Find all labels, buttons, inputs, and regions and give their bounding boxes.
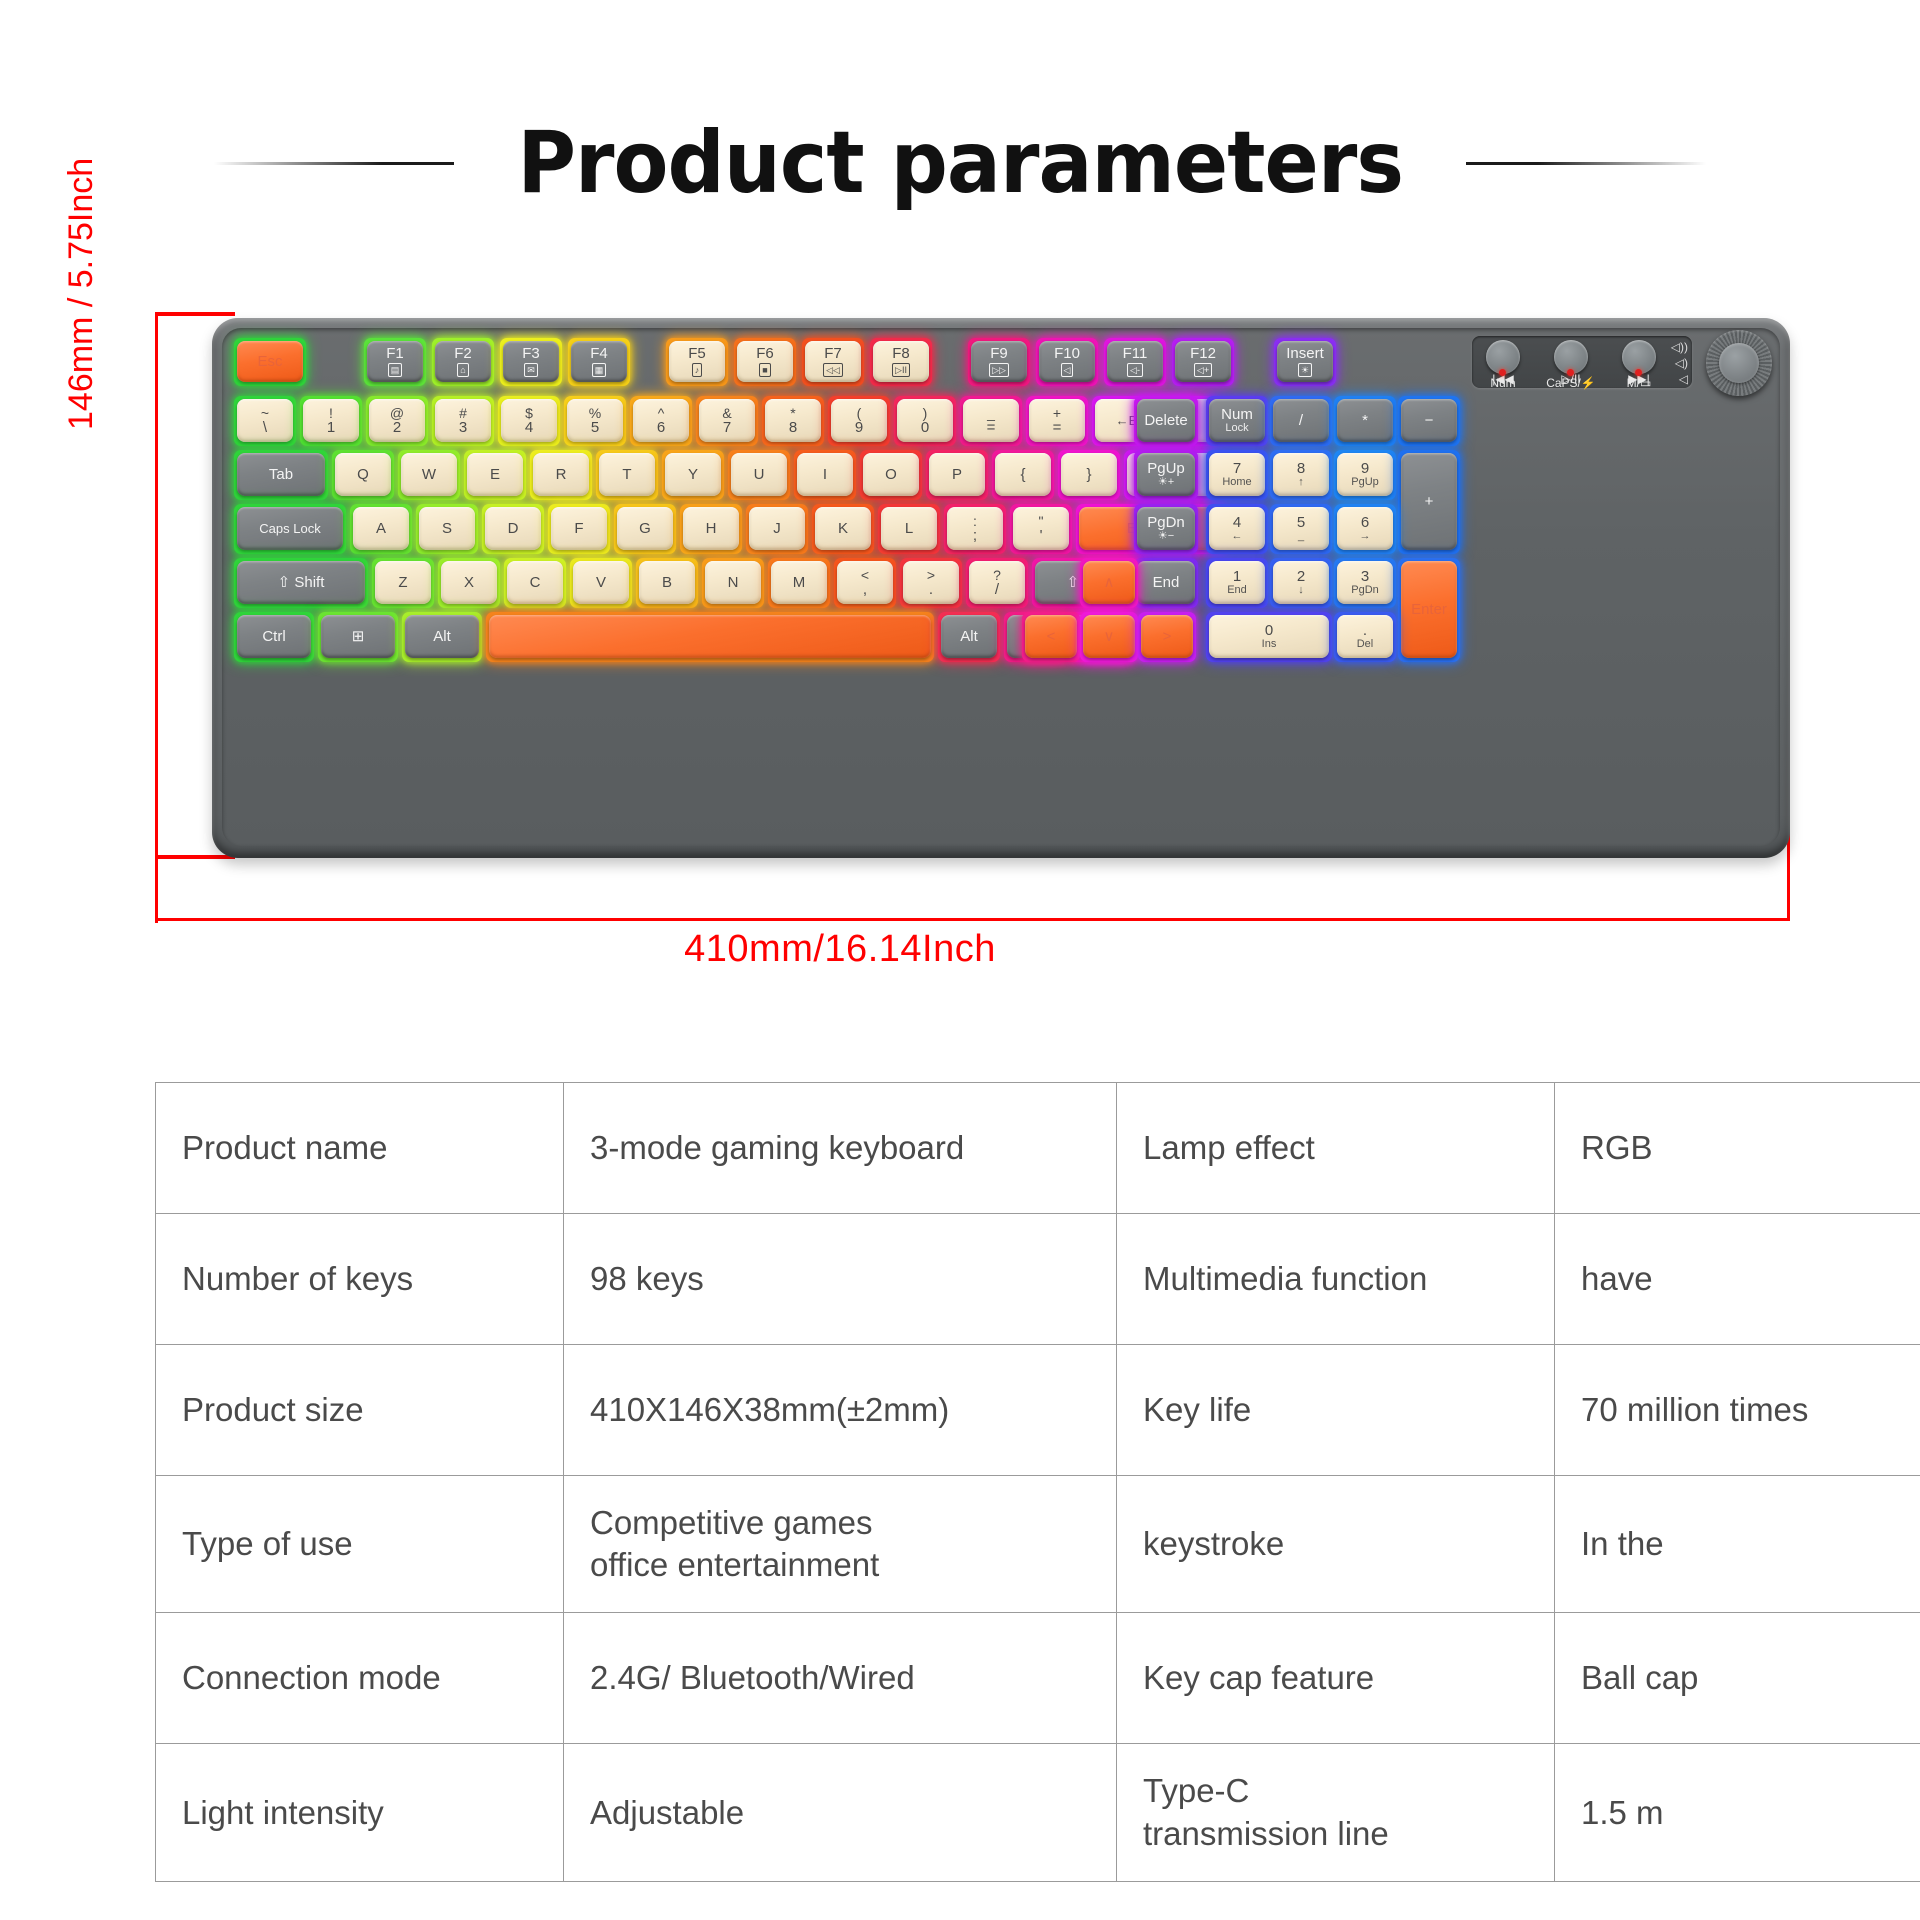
next-track-icon: ▷▷ <box>989 363 1009 377</box>
key-legend-shifted: ~ <box>261 406 269 420</box>
dimension-horizontal-tick-left <box>155 838 158 923</box>
key-f10[interactable]: F10◁ <box>1036 338 1098 386</box>
keycap: F8▷II <box>873 341 929 382</box>
key-f[interactable]: F <box>548 504 610 554</box>
keycap: B <box>639 561 695 604</box>
key-numpad-4[interactable]: 4← <box>1206 504 1268 554</box>
led-indicator-caps- <box>1567 369 1574 376</box>
volume-knob-icon[interactable] <box>1706 330 1772 396</box>
key-legend: F12 <box>1190 346 1216 361</box>
key-sublegend: ☀− <box>1158 531 1174 542</box>
key-t[interactable]: T <box>596 450 658 500</box>
key-f8[interactable]: F8▷II <box>870 338 932 386</box>
key-numpad-dot[interactable]: .Del <box>1334 612 1396 662</box>
key-sublegend: Ins <box>1262 639 1277 650</box>
key-legend-shifted: ( <box>857 406 862 420</box>
key-4[interactable]: $4 <box>498 396 560 446</box>
key-e[interactable]: E <box>464 450 526 500</box>
key-legend-shifted: # <box>459 406 467 420</box>
keycap: X <box>441 561 497 604</box>
key-legend-shifted: _ <box>987 406 995 420</box>
key-legend: − <box>1425 413 1434 428</box>
volume-up-icon: ◁+ <box>1194 363 1212 377</box>
key-legend: 8 <box>789 420 797 435</box>
key-p[interactable]: P <box>926 450 988 500</box>
spec-value-3: In the <box>1555 1476 1920 1613</box>
keycap: F4▦ <box>571 341 627 382</box>
table-row: Light intensityAdjustableType-Ctransmiss… <box>156 1744 1920 1881</box>
key-numpad-8[interactable]: 8↑ <box>1270 450 1332 500</box>
dimension-vertical-tick-bottom <box>155 855 235 859</box>
key-legend: C <box>530 575 541 590</box>
key-legend: E <box>490 467 500 482</box>
keycap: 3PgDn <box>1337 561 1393 604</box>
key-legend: V <box>596 575 606 590</box>
key-insert[interactable]: Insert☀ <box>1274 338 1336 386</box>
spec-label-3: Type of use <box>156 1476 564 1613</box>
key-legend: F3 <box>522 346 540 361</box>
spec-value-5: 1.5 m <box>1555 1744 1920 1881</box>
key-legend: F9 <box>990 346 1008 361</box>
key-legend: 8 <box>1297 461 1305 476</box>
key-legend: / <box>995 582 999 597</box>
key-legend: F8 <box>892 346 910 361</box>
key-r[interactable]: R <box>530 450 592 500</box>
key-i[interactable]: I <box>794 450 856 500</box>
page-title: Product parameters <box>517 113 1403 213</box>
keycap: Insert☀ <box>1277 341 1333 382</box>
key-legend: F2 <box>454 346 472 361</box>
keycap: C <box>507 561 563 604</box>
key-s[interactable]: S <box>416 504 478 554</box>
keycap: 5_ <box>1273 507 1329 550</box>
keycap: M <box>771 561 827 604</box>
key-sublegend: Lock <box>1225 423 1248 434</box>
key-alt[interactable]: Alt <box>402 612 482 662</box>
key-legend: N <box>728 575 739 590</box>
keycap: Enter <box>1401 561 1457 658</box>
key-legend: 4 <box>525 420 533 435</box>
key-alt[interactable]: Alt <box>938 612 1000 662</box>
key-tab[interactable]: Tab <box>234 450 328 500</box>
key-legend: Alt <box>433 629 451 644</box>
keycap: < <box>1025 615 1077 658</box>
key-c[interactable]: C <box>504 558 566 608</box>
keycap: 7Home <box>1209 453 1265 496</box>
keycap: (9 <box>831 399 887 442</box>
key-7[interactable]: &7 <box>696 396 758 446</box>
key-legend: ' <box>1040 528 1043 543</box>
key-legend: A <box>376 521 386 536</box>
spec-value-1: 98 keys <box>564 1214 1117 1345</box>
keycap: #3 <box>435 399 491 442</box>
key-numpad[interactable]: / <box>1270 396 1332 446</box>
key-l[interactable]: L <box>878 504 940 554</box>
key-legend: 2 <box>393 420 401 435</box>
key-5[interactable]: %5 <box>564 396 626 446</box>
keycap: * <box>1337 399 1393 442</box>
key-f5[interactable]: F5♪ <box>666 338 728 386</box>
key-legend: 6 <box>657 420 665 435</box>
key-legend: U <box>754 467 765 482</box>
key-legend: < <box>1047 629 1056 644</box>
key-legend-shifted: % <box>589 406 601 420</box>
key-numpad-6[interactable]: 6→ <box>1334 504 1396 554</box>
key-sublegend: ↑ <box>1298 477 1304 488</box>
key-legend: 7 <box>723 420 731 435</box>
keycap: 8↑ <box>1273 453 1329 496</box>
key-legend: 0 <box>921 420 929 435</box>
key-legend: Delete <box>1144 413 1187 428</box>
keycap: ⊞ <box>321 615 395 658</box>
led-indicator-m- <box>1635 369 1642 376</box>
key-k[interactable]: K <box>812 504 874 554</box>
keycap: D <box>485 507 541 550</box>
keycap: F2⌂ <box>435 341 491 382</box>
spec-label-2: Key life <box>1117 1345 1555 1476</box>
keycap: F6■ <box>737 341 793 382</box>
key-legend: Z <box>398 575 407 590</box>
keycap: F3✉ <box>503 341 559 382</box>
key-[interactable]: _= <box>960 396 1022 446</box>
spec-value-1: have <box>1555 1214 1920 1345</box>
key-[interactable]: "' <box>1010 504 1072 554</box>
key-legend: Q <box>357 467 369 482</box>
brightness-icon: ☀ <box>1298 363 1312 377</box>
keycap: 2↓ <box>1273 561 1329 604</box>
dimension-vertical-line <box>155 312 158 922</box>
led-label: M/▭ <box>1610 376 1668 390</box>
key-0[interactable]: )0 <box>894 396 956 446</box>
key-legend: 4 <box>1233 515 1241 530</box>
key-sublegend: ☀+ <box>1158 477 1174 488</box>
play-pause-icon: ▷II <box>892 363 910 377</box>
keycap: ~\ <box>237 399 293 442</box>
key-1[interactable]: !1 <box>300 396 362 446</box>
key-legend: F <box>574 521 583 536</box>
keycap: > <box>1141 615 1193 658</box>
key-delete[interactable]: Delete <box>1134 396 1198 446</box>
key-legend-shifted: < <box>861 568 869 582</box>
key-f12[interactable]: F12◁+ <box>1172 338 1234 386</box>
key-legend-shifted: ! <box>329 406 333 420</box>
keycap: Alt <box>941 615 997 658</box>
key-caps-lock[interactable]: Caps Lock <box>234 504 346 554</box>
key-legend: 9 <box>1361 461 1369 476</box>
key-[interactable]: >. <box>900 558 962 608</box>
key-[interactable]: :; <box>944 504 1006 554</box>
key-sublegend: PgDn <box>1351 585 1379 596</box>
prev-track-icon: ◁◁ <box>823 363 843 377</box>
spec-label-1: Number of keys <box>156 1214 564 1345</box>
spec-value-2: 70 million times <box>1555 1345 1920 1476</box>
key-sublegend: Del <box>1357 639 1374 650</box>
key-d[interactable]: D <box>482 504 544 554</box>
key-numpad-5[interactable]: 5_ <box>1270 504 1332 554</box>
key-legend: Insert <box>1286 346 1324 361</box>
keycap: T <box>599 453 655 496</box>
led-label: CaPS/⚡ <box>1542 376 1600 390</box>
stop-icon: ■ <box>759 363 770 377</box>
keycap: PgDn☀− <box>1137 507 1195 550</box>
key-8[interactable]: *8 <box>762 396 824 446</box>
led-label: Num <box>1474 376 1532 390</box>
key-legend: F5 <box>688 346 706 361</box>
led-indicator-num <box>1499 369 1506 376</box>
key-pgdn[interactable]: PgDn☀− <box>1134 504 1198 554</box>
key-arrow-down[interactable]: ∨ <box>1080 612 1138 662</box>
key-legend: Esc <box>257 354 282 369</box>
key-f1[interactable]: F1▤ <box>364 338 426 386</box>
home-icon: ⌂ <box>457 363 468 377</box>
keycap: F <box>551 507 607 550</box>
table-row: Connection mode2.4G/ Bluetooth/WiredKey … <box>156 1613 1920 1744</box>
spec-value-0: RGB <box>1555 1083 1920 1214</box>
key-legend: 9 <box>855 420 863 435</box>
table-row: Type of useCompetitive gamesoffice enter… <box>156 1476 1920 1613</box>
key-[interactable]: ?/ <box>966 558 1028 608</box>
key-[interactable]: } <box>1058 450 1120 500</box>
keycap: − <box>1401 399 1457 442</box>
key-f3[interactable]: F3✉ <box>500 338 562 386</box>
spec-label-0: Product name <box>156 1083 564 1214</box>
key-a[interactable]: A <box>350 504 412 554</box>
key-numpad[interactable]: * <box>1334 396 1396 446</box>
key-legend: + <box>1425 494 1434 509</box>
keycap: Caps Lock <box>237 507 343 550</box>
keycap: ∧ <box>1083 561 1135 604</box>
keycap: Q <box>335 453 391 496</box>
key-numpad-num[interactable]: NumLock <box>1206 396 1268 446</box>
key-legend-shifted: & <box>722 406 731 420</box>
keycap: *8 <box>765 399 821 442</box>
mute-icon: ◁ <box>1061 363 1074 377</box>
key-numpad-3[interactable]: 3PgDn <box>1334 558 1396 608</box>
key-[interactable]: ~\ <box>234 396 296 446</box>
key-legend: } <box>1086 467 1091 482</box>
key-m[interactable]: M <box>768 558 830 608</box>
volume-level-icon-0: ◁)) <box>1671 340 1688 354</box>
keycap: :; <box>947 507 1003 550</box>
key-legend: W <box>422 467 436 482</box>
spec-value-0: 3-mode gaming keyboard <box>564 1083 1117 1214</box>
key-f7[interactable]: F7◁◁ <box>802 338 864 386</box>
keycap: End <box>1137 561 1195 604</box>
key-legend: 6 <box>1361 515 1369 530</box>
keycap: W <box>401 453 457 496</box>
key-legend-shifted: " <box>1039 514 1044 528</box>
key-numpad-9[interactable]: 9PgUp <box>1334 450 1396 500</box>
media-control-panel[interactable]: |◀◀▷/II▶▶|NumCaPS/⚡M/▭◁))◁)◁ <box>1472 336 1692 388</box>
keycap: L <box>881 507 937 550</box>
key-legend: ∨ <box>1104 629 1115 644</box>
key-legend: 5 <box>1297 515 1305 530</box>
keycap: U <box>731 453 787 496</box>
key-f4[interactable]: F4▦ <box>568 338 630 386</box>
key-x[interactable]: X <box>438 558 500 608</box>
key-v[interactable]: V <box>570 558 632 608</box>
spec-value-4: Ball cap <box>1555 1613 1920 1744</box>
key-legend: ⇧ Shift <box>278 575 325 590</box>
key-legend: D <box>508 521 519 536</box>
key-n[interactable]: N <box>702 558 764 608</box>
key-shift[interactable]: ⇧ Shift <box>234 558 368 608</box>
keycap: Esc <box>237 341 303 382</box>
key-g[interactable]: G <box>614 504 676 554</box>
key-legend: 5 <box>591 420 599 435</box>
key-legend: F6 <box>756 346 774 361</box>
key-o[interactable]: O <box>860 450 922 500</box>
key-legend: , <box>863 582 867 597</box>
key-f9[interactable]: F9▷▷ <box>968 338 1030 386</box>
key-legend: = <box>987 420 996 435</box>
keycap: !1 <box>303 399 359 442</box>
specification-table: Product name3-mode gaming keyboardLamp e… <box>155 1082 1920 1882</box>
spec-value-2: 410X146X38mm(±2mm) <box>564 1345 1117 1476</box>
key-windows-icon[interactable]: ⊞ <box>318 612 398 662</box>
dimension-height-label: 146mm / 5.75Inch <box>62 158 101 430</box>
key-z[interactable]: Z <box>372 558 434 608</box>
key-legend-shifted: ) <box>923 406 928 420</box>
keycap: F12◁+ <box>1175 341 1231 382</box>
key-legend: 3 <box>1361 569 1369 584</box>
key-legend: Enter <box>1411 602 1447 617</box>
keycap: "' <box>1013 507 1069 550</box>
key-sublegend: Home <box>1222 477 1251 488</box>
key-legend: \ <box>263 420 267 435</box>
key-f2[interactable]: F2⌂ <box>432 338 494 386</box>
dimension-width-label: 410mm/16.14Inch <box>0 928 1920 971</box>
keycap: $4 <box>501 399 557 442</box>
keycap: I <box>797 453 853 496</box>
key-arrow-right[interactable]: > <box>1138 612 1196 662</box>
keycap: A <box>353 507 409 550</box>
keycap: / <box>1273 399 1329 442</box>
key-legend: G <box>639 521 651 536</box>
key-arrow-left[interactable]: < <box>1022 612 1080 662</box>
key-legend: L <box>905 521 913 536</box>
key-legend: > <box>1163 629 1172 644</box>
key-legend: F4 <box>590 346 608 361</box>
key-f6[interactable]: F6■ <box>734 338 796 386</box>
key-legend: 0 <box>1265 623 1273 638</box>
keyboard-plate: EscF1▤F2⌂F3✉F4▦F5♪F6■F7◁◁F8▷IIF9▷▷F10◁F1… <box>222 328 1780 846</box>
mail-icon: ✉ <box>524 363 538 377</box>
key-sublegend: → <box>1360 531 1371 542</box>
keycap: %5 <box>567 399 623 442</box>
key-2[interactable]: @2 <box>366 396 428 446</box>
keycap <box>489 615 931 658</box>
key-legend: * <box>1362 413 1368 428</box>
key-legend: 1 <box>327 420 335 435</box>
keycap: PgUp☀+ <box>1137 453 1195 496</box>
table-row: Number of keys98 keysMultimedia function… <box>156 1214 1920 1345</box>
key-q[interactable]: Q <box>332 450 394 500</box>
spec-label-5: Type-Ctransmission line <box>1117 1744 1555 1881</box>
key-numpad-2[interactable]: 2↓ <box>1270 558 1332 608</box>
key-legend: . <box>1363 623 1367 638</box>
key-legend: Y <box>688 467 698 482</box>
key-3[interactable]: #3 <box>432 396 494 446</box>
key-numpad-0[interactable]: 0Ins <box>1206 612 1332 662</box>
key-b[interactable]: B <box>636 558 698 608</box>
music-icon: ♪ <box>692 363 703 377</box>
keycap: V <box>573 561 629 604</box>
spec-label-5: Light intensity <box>156 1744 564 1881</box>
key-numpad[interactable]: − <box>1398 396 1460 446</box>
keycap: N <box>705 561 761 604</box>
key-u[interactable]: U <box>728 450 790 500</box>
dimension-width-text: 410mm/16.14Inch <box>684 928 996 970</box>
key-[interactable]: += <box>1026 396 1088 446</box>
key-sublegend: End <box>1227 585 1247 596</box>
keycap: 9PgUp <box>1337 453 1393 496</box>
keycap: F9▷▷ <box>971 341 1027 382</box>
key-sublegend: ↓ <box>1298 585 1304 596</box>
key-legend: / <box>1299 413 1303 428</box>
key-h[interactable]: H <box>680 504 742 554</box>
key-legend: . <box>929 582 933 597</box>
key-esc[interactable]: Esc <box>234 338 306 386</box>
key-legend-shifted: > <box>927 568 935 582</box>
key-ctrl[interactable]: Ctrl <box>234 612 314 662</box>
key-b3[interactable] <box>486 612 934 662</box>
key-pgup[interactable]: PgUp☀+ <box>1134 450 1198 500</box>
key-legend: Alt <box>960 629 978 644</box>
volume-level-icon-2: ◁ <box>1679 372 1688 386</box>
key-legend: ∧ <box>1104 575 1115 590</box>
volume-down-icon: ◁- <box>1127 363 1143 377</box>
keycap: F10◁ <box>1039 341 1095 382</box>
key-arrow-up[interactable]: ∧ <box>1080 558 1138 608</box>
spec-value-3: Competitive gamesoffice entertainment <box>564 1476 1117 1613</box>
title-rule-right <box>1466 162 1706 165</box>
key-j[interactable]: J <box>746 504 808 554</box>
key-9[interactable]: (9 <box>828 396 890 446</box>
key-sublegend: _ <box>1298 531 1304 542</box>
keycap: E <box>467 453 523 496</box>
keycap: J <box>749 507 805 550</box>
key-sublegend: PgUp <box>1351 477 1379 488</box>
key-legend-shifted: ^ <box>658 406 665 420</box>
key-legend-shifted: @ <box>390 406 404 420</box>
keycap: Ctrl <box>237 615 311 658</box>
key-f11[interactable]: F11◁- <box>1104 338 1166 386</box>
spec-label-0: Lamp effect <box>1117 1083 1555 1214</box>
key-legend-shifted: * <box>790 406 795 420</box>
key-legend-shifted: $ <box>525 406 533 420</box>
key-legend: Ctrl <box>262 629 285 644</box>
key-y[interactable]: Y <box>662 450 724 500</box>
key-numpad[interactable]: + <box>1398 450 1460 554</box>
key-legend: Caps Lock <box>259 522 320 535</box>
key-6[interactable]: ^6 <box>630 396 692 446</box>
key-[interactable]: <, <box>834 558 896 608</box>
key-numpad-enter[interactable]: Enter <box>1398 558 1460 662</box>
key-legend: F7 <box>824 346 842 361</box>
keycap: Z <box>375 561 431 604</box>
key-[interactable]: { <box>992 450 1054 500</box>
key-numpad-1[interactable]: 1End <box>1206 558 1268 608</box>
keycap: H <box>683 507 739 550</box>
key-end[interactable]: End <box>1134 558 1198 608</box>
key-legend: T <box>622 467 631 482</box>
key-legend: F1 <box>386 346 404 361</box>
key-numpad-7[interactable]: 7Home <box>1206 450 1268 500</box>
key-legend: M <box>793 575 806 590</box>
keycap: K <box>815 507 871 550</box>
key-w[interactable]: W <box>398 450 460 500</box>
